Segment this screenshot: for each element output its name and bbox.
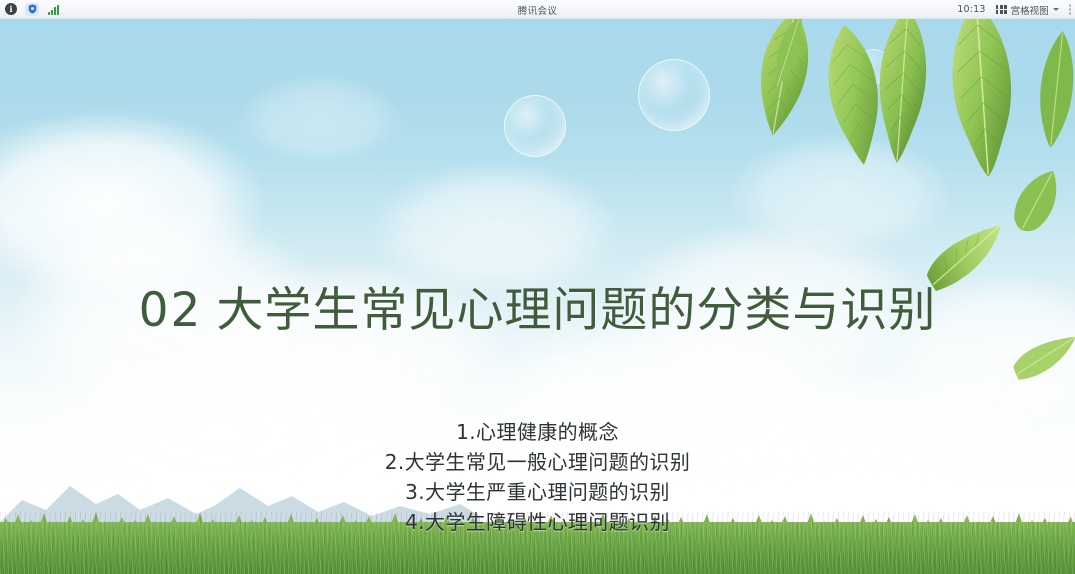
app-title: 腾讯会议	[518, 3, 558, 17]
list-item: 2.大学生常见一般心理问题的识别	[0, 447, 1075, 477]
slide-title-text: 大学生常见心理问题的分类与识别	[216, 283, 936, 338]
slide-section-number: 02	[139, 283, 203, 338]
titlebar-right-controls: 10:13 宫格视图	[957, 0, 1071, 19]
grid-view-icon	[996, 5, 1007, 14]
shield-icon[interactable]	[25, 3, 39, 16]
titlebar-center: 腾讯会议	[0, 0, 1075, 19]
slide-title: 02大学生常见心理问题的分类与识别	[0, 271, 1075, 340]
list-item: 4.大学生障碍性心理问题识别	[0, 507, 1075, 537]
clock: 10:13	[957, 4, 985, 15]
chevron-down-icon	[1053, 8, 1059, 11]
meeting-window: i 腾讯会议 10:13 宫格视图	[0, 0, 1075, 574]
leaf-icon	[861, 19, 944, 167]
grid-view-button[interactable]: 宫格视图	[993, 2, 1062, 18]
signal-strength-icon[interactable]	[47, 4, 60, 15]
titlebar-left-controls: i	[0, 3, 60, 16]
list-item: 3.大学生严重心理问题的识别	[0, 477, 1075, 507]
soap-bubble	[504, 95, 566, 157]
slide-agenda-list: 1.心理健康的概念 2.大学生常见一般心理问题的识别 3.大学生严重心理问题的识…	[0, 417, 1075, 537]
window-titlebar: i 腾讯会议 10:13 宫格视图	[0, 0, 1075, 19]
soap-bubble	[638, 59, 710, 131]
leaf-icon	[930, 19, 1034, 182]
list-item: 1.心理健康的概念	[0, 417, 1075, 447]
more-options-icon[interactable]	[1069, 4, 1071, 14]
shared-screen-slide: 02大学生常见心理问题的分类与识别 1.心理健康的概念 2.大学生常见一般心理问…	[0, 19, 1075, 574]
grid-view-label: 宫格视图	[1011, 3, 1049, 17]
info-icon[interactable]: i	[5, 3, 17, 15]
